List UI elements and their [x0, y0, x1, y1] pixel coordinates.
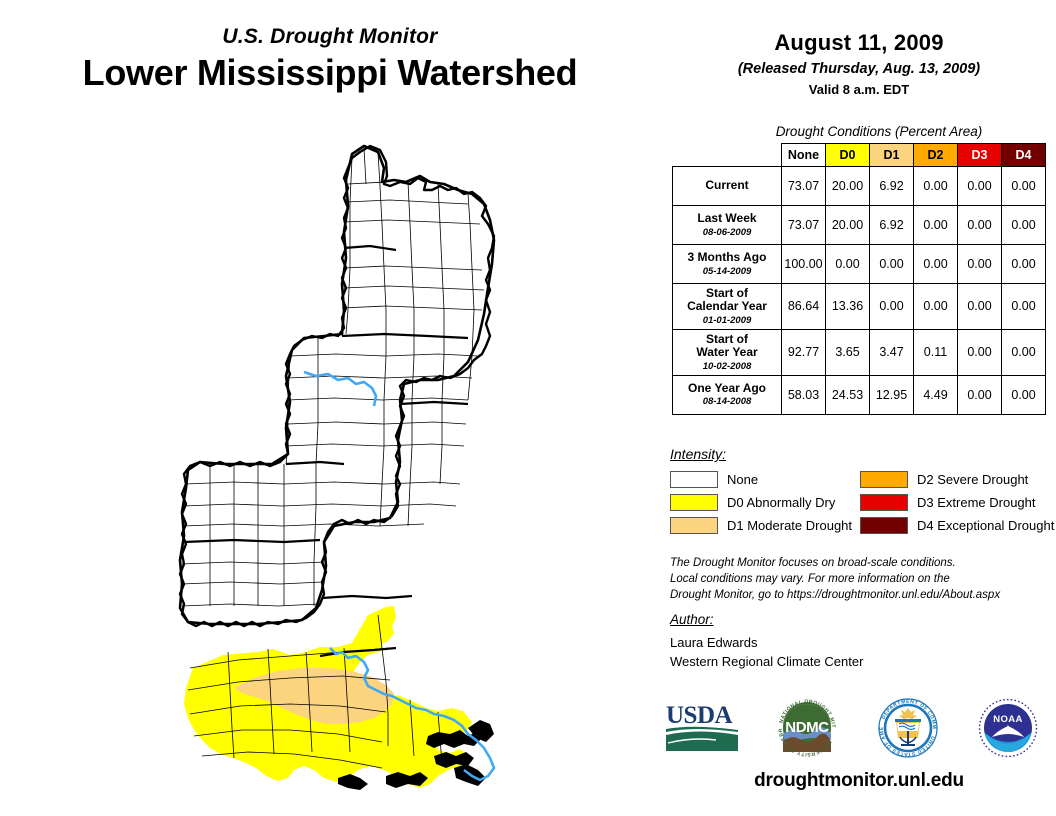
intensity-legend-title: Intensity: [670, 446, 726, 462]
table-header-row: NoneD0D1D2D3D4 [673, 144, 1046, 167]
legend-swatch-d1 [670, 517, 718, 534]
legend-swatch-d0 [670, 494, 718, 511]
table-cell-d3: 0.00 [958, 206, 1002, 245]
row-label-date: 10-02-2008 [677, 361, 777, 372]
legend-label-none: None [727, 472, 758, 487]
table-row: Last Week08-06-200973.0720.006.920.000.0… [673, 206, 1046, 245]
row-label-title: Start ofCalendar Year [677, 287, 777, 314]
noaa-logo: NOAA [976, 696, 1040, 765]
table-cell-d4: 0.00 [1002, 167, 1046, 206]
legend-column-right: D2 Severe DroughtD3 Extreme DroughtD4 Ex… [860, 468, 1054, 537]
table-cell-d0: 13.36 [826, 284, 870, 330]
table-cell-d4: 0.00 [1002, 245, 1046, 284]
table-cell-d1: 0.00 [870, 245, 914, 284]
legend-swatch-d2 [860, 471, 908, 488]
table-cell-d3: 0.00 [958, 375, 1002, 414]
watershed-outline [180, 146, 494, 626]
table-cell-none: 58.03 [782, 375, 826, 414]
table-cell-none: 100.00 [782, 245, 826, 284]
map-svg [138, 128, 662, 814]
table-cell-d3: 0.00 [958, 245, 1002, 284]
table-cell-d3: 0.00 [958, 167, 1002, 206]
disclaimer-line-1: The Drought Monitor focuses on broad-sca… [670, 556, 1000, 572]
table-column-header-d1: D1 [870, 144, 914, 167]
table-cell-d2: 4.49 [914, 375, 958, 414]
legend-label-d0: D0 Abnormally Dry [727, 495, 835, 510]
row-label-date: 08-14-2008 [677, 396, 777, 407]
table-cell-d1: 6.92 [870, 167, 914, 206]
table-column-header-d0: D0 [826, 144, 870, 167]
region-title: Lower Mississippi Watershed [0, 52, 660, 93]
row-label-date: 01-01-2009 [677, 315, 777, 326]
table-cell-none: 92.77 [782, 329, 826, 375]
table-cell-d1: 0.00 [870, 284, 914, 330]
table-row: One Year Ago08-14-200858.0324.5312.954.4… [673, 375, 1046, 414]
legend-item-none: None [670, 468, 852, 491]
table-row: Current73.0720.006.920.000.000.00 [673, 167, 1046, 206]
table-cell-none: 73.07 [782, 167, 826, 206]
table-row-label: One Year Ago08-14-2008 [673, 375, 782, 414]
table-row: Start ofWater Year10-02-200892.773.653.4… [673, 329, 1046, 375]
author-block: Laura Edwards Western Regional Climate C… [670, 634, 863, 672]
table-cell-d0: 20.00 [826, 206, 870, 245]
table-cell-d0: 3.65 [826, 329, 870, 375]
disclaimer-text: The Drought Monitor focuses on broad-sca… [670, 556, 1000, 604]
table-column-header-d3: D3 [958, 144, 1002, 167]
table-cell-none: 73.07 [782, 206, 826, 245]
legend-item-d3: D3 Extreme Drought [860, 491, 1054, 514]
disclaimer-line-2: Local conditions may vary. For more info… [670, 572, 1000, 588]
svg-text:USDA: USDA [666, 702, 733, 729]
svg-text:NOAA: NOAA [993, 714, 1023, 725]
table-cell-d2: 0.11 [914, 329, 958, 375]
table-cell-d2: 0.00 [914, 167, 958, 206]
legend-label-d1: D1 Moderate Drought [727, 518, 852, 533]
watershed-upper-lobe [180, 146, 494, 624]
row-label-date: 05-14-2009 [677, 266, 777, 277]
legend-label-d2: D2 Severe Drought [917, 472, 1028, 487]
table-cell-d0: 24.53 [826, 375, 870, 414]
row-label-title: Start ofWater Year [677, 333, 777, 360]
table-cell-d1: 3.47 [870, 329, 914, 375]
table-column-header-d2: D2 [914, 144, 958, 167]
table-body: Current73.0720.006.920.000.000.00Last We… [673, 167, 1046, 415]
author-name: Laura Edwards [670, 634, 863, 653]
valid-time: Valid 8 a.m. EDT [668, 82, 1050, 97]
legend-item-d1: D1 Moderate Drought [670, 514, 852, 537]
table-cell-d3: 0.00 [958, 329, 1002, 375]
table-row-label: Start ofWater Year10-02-2008 [673, 329, 782, 375]
author-label: Author: [670, 612, 714, 627]
title-block: U.S. Drought Monitor Lower Mississippi W… [0, 26, 660, 93]
row-label-date: 08-06-2009 [677, 227, 777, 238]
table-cell-d2: 0.00 [914, 206, 958, 245]
table-row-label: 3 Months Ago05-14-2009 [673, 245, 782, 284]
row-label-title: 3 Months Ago [677, 251, 777, 264]
legend-column-left: NoneD0 Abnormally DryD1 Moderate Drought [670, 468, 852, 537]
table-cell-d0: 0.00 [826, 245, 870, 284]
table-cell-d0: 20.00 [826, 167, 870, 206]
date-block: August 11, 2009 (Released Thursday, Aug.… [668, 30, 1050, 97]
legend-item-d2: D2 Severe Drought [860, 468, 1054, 491]
legend-swatch-d4 [860, 517, 908, 534]
table-row: Start ofCalendar Year01-01-200986.6413.3… [673, 284, 1046, 330]
table-cell-d2: 0.00 [914, 245, 958, 284]
table-cell-d1: 6.92 [870, 206, 914, 245]
author-affiliation: Western Regional Climate Center [670, 653, 863, 672]
program-title: U.S. Drought Monitor [0, 26, 660, 48]
table-cell-d3: 0.00 [958, 284, 1002, 330]
row-label-title: Last Week [677, 212, 777, 225]
lower-mississippi-watershed-drought-map [138, 128, 662, 814]
table-column-header-d4: D4 [1002, 144, 1046, 167]
map-date: August 11, 2009 [668, 30, 1050, 56]
row-label-title: Current [677, 179, 777, 192]
svg-text:NDMC: NDMC [786, 719, 830, 736]
legend-label-d3: D3 Extreme Drought [917, 495, 1036, 510]
table-cell-d4: 0.00 [1002, 206, 1046, 245]
table-cell-d2: 0.00 [914, 284, 958, 330]
website-url: droughtmonitor.unl.edu [668, 770, 1050, 792]
table-row-label: Current [673, 167, 782, 206]
table-corner-cell [673, 144, 782, 167]
table-cell-d4: 0.00 [1002, 375, 1046, 414]
commerce-seal: DEPARTMENT OF COMMERCE UNITED STATES OF … [875, 695, 941, 766]
logo-row: USDA NATIONAL DROUGHT MITIGATION CENTER … [664, 692, 1040, 768]
legend-swatch-d3 [860, 494, 908, 511]
drought-conditions-table: NoneD0D1D2D3D4 Current73.0720.006.920.00… [672, 143, 1046, 415]
table-cell-d1: 12.95 [870, 375, 914, 414]
legend-label-d4: D4 Exceptional Drought [917, 518, 1054, 533]
table-cell-d4: 0.00 [1002, 329, 1046, 375]
table-row-label: Last Week08-06-2009 [673, 206, 782, 245]
table-caption: Drought Conditions (Percent Area) [668, 124, 1050, 139]
table-row-label: Start ofCalendar Year01-01-2009 [673, 284, 782, 330]
table-cell-d4: 0.00 [1002, 284, 1046, 330]
usda-logo: USDA [664, 699, 740, 762]
release-date: (Released Thursday, Aug. 13, 2009) [668, 61, 1050, 77]
row-label-title: One Year Ago [677, 382, 777, 395]
table-cell-none: 86.64 [782, 284, 826, 330]
legend-item-d0: D0 Abnormally Dry [670, 491, 852, 514]
table-column-header-none: None [782, 144, 826, 167]
legend-swatch-none [670, 471, 718, 488]
table-row: 3 Months Ago05-14-2009100.000.000.000.00… [673, 245, 1046, 284]
legend-item-d4: D4 Exceptional Drought [860, 514, 1054, 537]
disclaimer-line-3: Drought Monitor, go to https://droughtmo… [670, 588, 1000, 604]
ndmc-logo: NATIONAL DROUGHT MITIGATION CENTER UNIVE… [775, 696, 839, 765]
